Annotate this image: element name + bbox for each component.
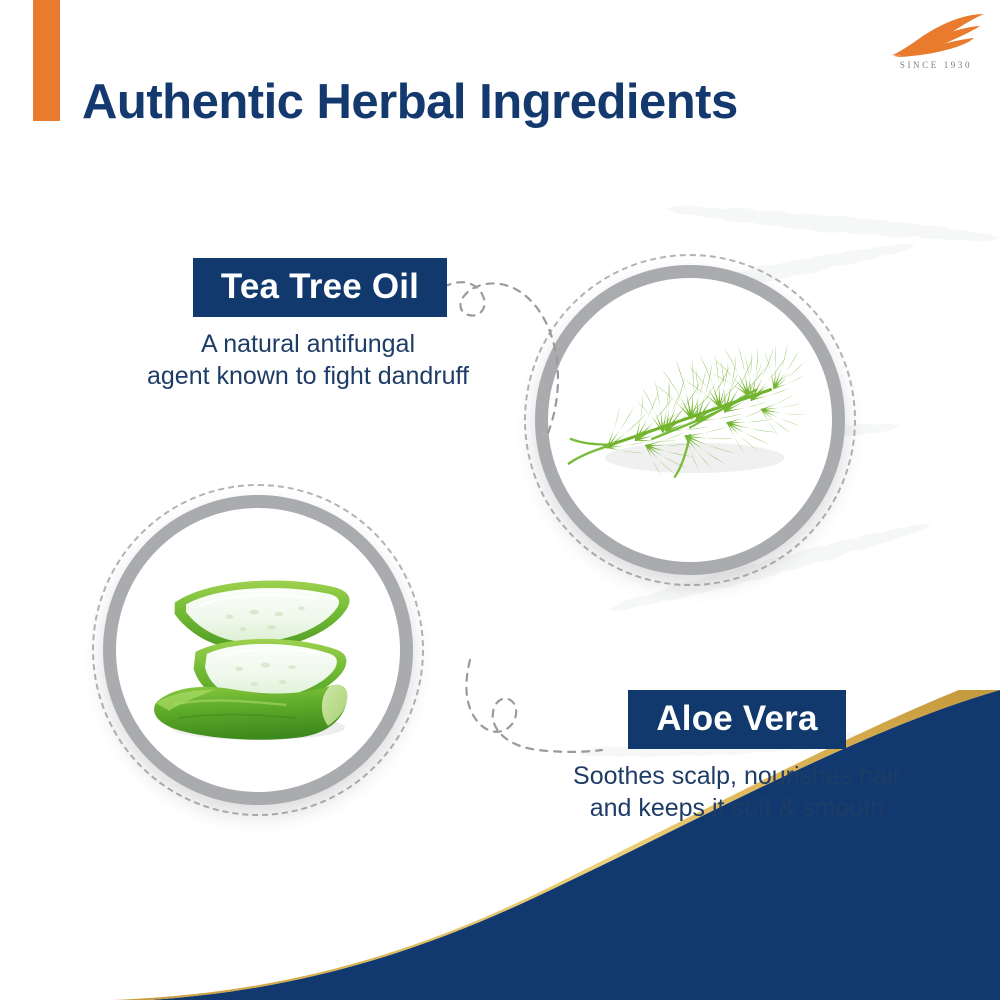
ingredient-description-aloe-vera: Soothes scalp, nourishes hair and keeps … — [537, 760, 937, 824]
ingredient-description-tea-tree-oil: A natural antifungal agent known to figh… — [136, 328, 480, 392]
aloe-vera-slices-photo — [116, 508, 400, 792]
ingredient-image-aloe-vera — [92, 484, 424, 816]
logo-tagline: SINCE 1930 — [884, 60, 988, 70]
ingredient-image-tea-tree-oil — [524, 254, 856, 586]
infographic-poster: Authentic Herbal Ingredients SINCE 1930 — [0, 0, 1000, 1000]
page-title: Authentic Herbal Ingredients — [82, 74, 738, 130]
ingredient-label-tea-tree-oil: Tea Tree Oil — [193, 258, 447, 317]
gray-ring-frame — [535, 265, 845, 575]
ingredient-block-tea-tree-oil: Tea Tree Oil A natural antifungal agent … — [160, 258, 480, 392]
ingredient-label-aloe-vera: Aloe Vera — [628, 690, 845, 749]
brand-logo: SINCE 1930 — [884, 12, 988, 82]
ingredient-block-aloe-vera: Aloe Vera Soothes scalp, nourishes hair … — [537, 690, 937, 824]
gray-ring-frame — [103, 495, 413, 805]
flame-leaf-logo-icon — [890, 12, 986, 58]
tea-tree-sprig-photo — [548, 278, 832, 562]
orange-accent-bar — [33, 0, 60, 121]
